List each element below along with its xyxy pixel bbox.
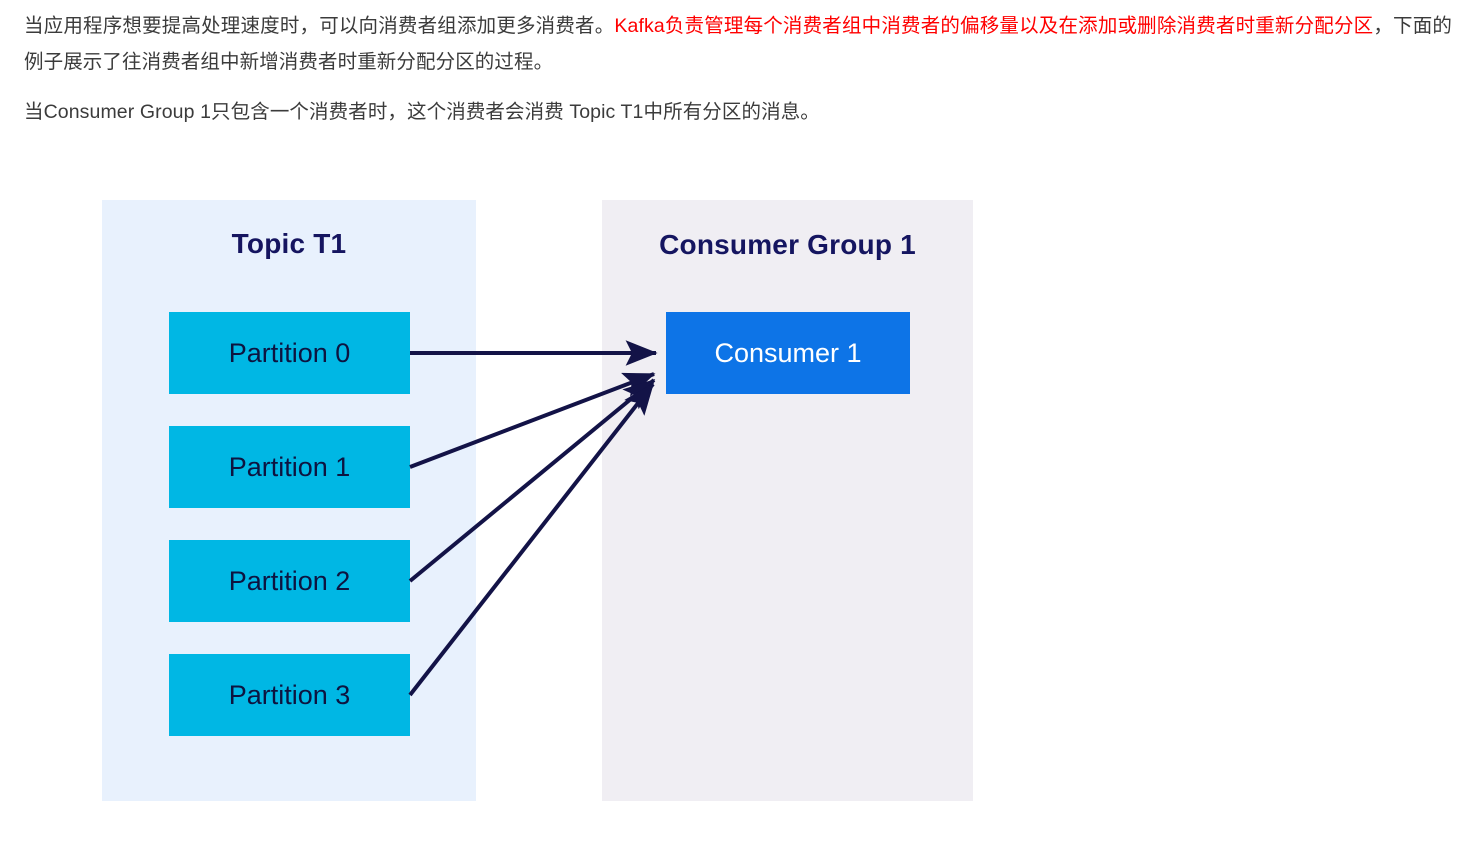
arrow-partition-1-to-consumer-1	[410, 374, 654, 467]
consumer-box-1: Consumer 1	[666, 312, 910, 394]
paragraph-1-segment-highlighted: Kafka负责管理每个消费者组中消费者的偏移量以及在添加或删除消费者时重新分配分…	[614, 15, 1373, 37]
article-body: 当应用程序想要提高处理速度时，可以向消费者组添加更多消费者。Kafka负责管理每…	[24, 8, 1452, 144]
partition-box-2: Partition 2	[169, 540, 410, 622]
consumer-group-panel: Consumer Group 1 Consumer 1	[602, 200, 973, 801]
topic-panel: Topic T1 Partition 0 Partition 1 Partiti…	[102, 200, 476, 801]
partition-box-3: Partition 3	[169, 654, 410, 736]
paragraph-1-segment-plain-lead: 当应用程序想要提高处理速度时，可以向消费者组添加更多消费者。	[24, 15, 614, 37]
arrow-partition-2-to-consumer-1	[410, 380, 654, 581]
arrow-partition-3-to-consumer-1	[410, 384, 653, 695]
paragraph-2: 当Consumer Group 1只包含一个消费者时，这个消费者会消费 Topi…	[24, 94, 1452, 130]
paragraph-2-segment-plain: 当Consumer Group 1只包含一个消费者时，这个消费者会消费 Topi…	[24, 101, 820, 123]
partition-box-0: Partition 0	[169, 312, 410, 394]
consumer-group-panel-title: Consumer Group 1	[602, 229, 973, 261]
topic-panel-title: Topic T1	[102, 228, 476, 260]
paragraph-1: 当应用程序想要提高处理速度时，可以向消费者组添加更多消费者。Kafka负责管理每…	[24, 8, 1452, 80]
partition-box-1: Partition 1	[169, 426, 410, 508]
